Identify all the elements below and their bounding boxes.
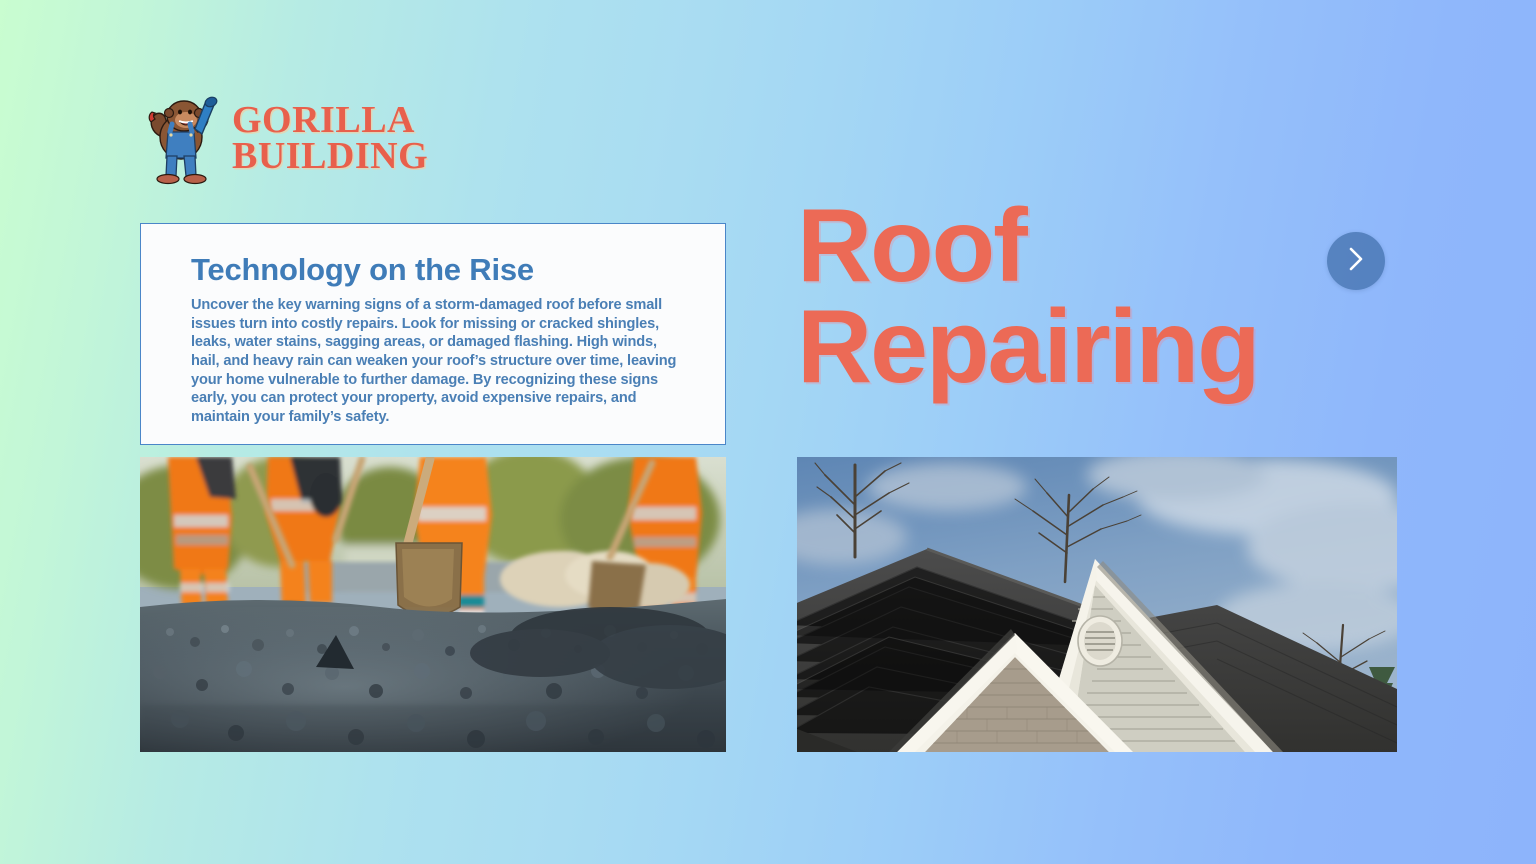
house-roof-photo [797,457,1397,752]
brand-logo[interactable]: GORILLA BUILDING [140,88,560,188]
road-construction-photo [140,457,726,752]
hero-headline-line-2: Repairing [797,297,1417,398]
hero-headline-line-1: Roof [797,196,1417,297]
chevron-right-icon [1345,245,1367,278]
next-slide-button[interactable] [1327,232,1385,290]
slide-canvas: GORILLA BUILDING Technology on the Rise … [0,0,1536,864]
article-card: Technology on the Rise Uncover the key w… [140,223,726,445]
brand-name-line-1: GORILLA [232,102,428,138]
gorilla-mascot-icon [140,88,222,188]
card-body-text: Uncover the key warning signs of a storm… [191,296,687,427]
brand-wordmark: GORILLA BUILDING [232,102,428,175]
hero-headline: Roof Repairing [797,196,1417,398]
brand-name-line-2: BUILDING [232,138,428,174]
card-title: Technology on the Rise [191,252,725,288]
